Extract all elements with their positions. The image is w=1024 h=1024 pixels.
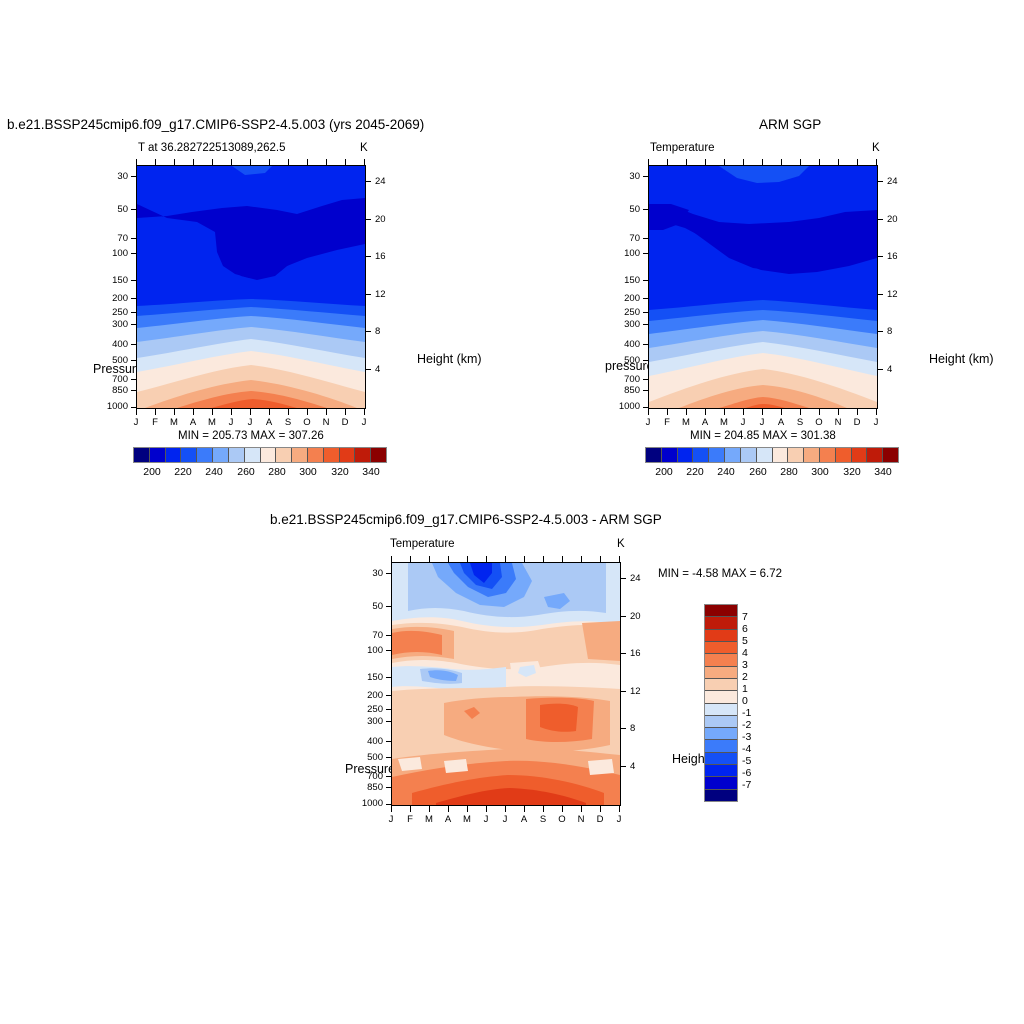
- cbarv-seg-2: [705, 630, 737, 642]
- model-ytick-500: 500: [100, 355, 128, 366]
- difference-cbar-label-n4: -4: [742, 743, 751, 755]
- model-height-tick-16: 16: [375, 251, 391, 262]
- obs-cbar-label-340: 340: [869, 466, 897, 478]
- cbarv-seg-12: [705, 753, 737, 765]
- difference-ytick-50: 50: [355, 601, 383, 612]
- model-ytick-150: 150: [100, 275, 128, 286]
- cbarv-seg-7: [705, 691, 737, 703]
- difference-colorbar[interactable]: [704, 604, 738, 802]
- difference-subtitle-left: Temperature: [390, 538, 455, 550]
- obs-ytick-250: 250: [612, 307, 640, 318]
- obs-units-label: K: [872, 142, 880, 154]
- cbar-seg-7: [245, 448, 261, 462]
- model-cbar-label-220: 220: [169, 466, 197, 478]
- obs-xtick-4: M: [717, 417, 731, 428]
- difference-xtick-8: S: [536, 814, 550, 825]
- model-xtick-11: D: [338, 417, 352, 428]
- model-xtick-4: M: [205, 417, 219, 428]
- obs-plot-area[interactable]: [648, 165, 878, 409]
- obs-xtick-5: J: [736, 417, 750, 428]
- cbar-seg-14: [867, 448, 883, 462]
- difference-cbar-label-n3: -3: [742, 731, 751, 743]
- model-plot-area[interactable]: [136, 165, 366, 409]
- cbarv-seg-1: [705, 617, 737, 629]
- panel-observations: ARM SGP Temperature K pressure level Hei…: [512, 0, 1024, 500]
- difference-height-tick-4: 4: [630, 761, 646, 772]
- obs-xtick-12: J: [869, 417, 883, 428]
- cbarv-seg-6: [705, 679, 737, 691]
- cbar-seg-4: [709, 448, 725, 462]
- difference-height-tick-8: 8: [630, 723, 646, 734]
- model-height-tick-8: 8: [375, 326, 391, 337]
- model-ytick-700: 700: [100, 374, 128, 385]
- obs-xtick-8: S: [793, 417, 807, 428]
- obs-ytick-400: 400: [612, 339, 640, 350]
- difference-xtick-0: J: [384, 814, 398, 825]
- cbar-seg-11: [820, 448, 836, 462]
- model-panel-title: b.e21.BSSP245cmip6.f09_g17.CMIP6-SSP2-4.…: [7, 117, 424, 132]
- difference-ytick-150: 150: [355, 672, 383, 683]
- obs-height-tick-24: 24: [887, 176, 903, 187]
- model-cbar-label-280: 280: [263, 466, 291, 478]
- obs-yaxis-label-right: Height (km): [929, 350, 994, 368]
- cbar-seg-12: [836, 448, 852, 462]
- difference-cbar-label-4: 4: [742, 647, 748, 659]
- difference-cbar-label-n6: -6: [742, 767, 751, 779]
- cbar-seg-6: [229, 448, 245, 462]
- model-xtick-3: A: [186, 417, 200, 428]
- model-subtitle-left: T at 36.282722513089,262.5: [138, 142, 286, 154]
- difference-ytick-400: 400: [355, 736, 383, 747]
- difference-cbar-label-n1: -1: [742, 707, 751, 719]
- panel-difference: b.e21.BSSP245cmip6.f09_g17.CMIP6-SSP2-4.…: [0, 500, 1024, 860]
- cbarv-seg-9: [705, 716, 737, 728]
- difference-ytick-250: 250: [355, 704, 383, 715]
- cbar-seg-14: [355, 448, 371, 462]
- obs-ytick-100: 100: [612, 248, 640, 259]
- difference-ytick-1000: 1000: [351, 798, 383, 809]
- obs-xtick-9: O: [812, 417, 826, 428]
- cbar-seg-5: [725, 448, 741, 462]
- difference-xtick-10: N: [574, 814, 588, 825]
- obs-minmax-label: MIN = 204.85 MAX = 301.38: [690, 430, 836, 442]
- cbar-seg-11: [308, 448, 324, 462]
- difference-xtick-9: O: [555, 814, 569, 825]
- difference-ytick-300: 300: [355, 716, 383, 727]
- cbar-seg-2: [166, 448, 182, 462]
- obs-cbar-label-280: 280: [775, 466, 803, 478]
- obs-cbar-label-300: 300: [806, 466, 834, 478]
- model-xtick-1: F: [148, 417, 162, 428]
- obs-xtick-2: M: [679, 417, 693, 428]
- obs-ytick-700: 700: [612, 374, 640, 385]
- obs-ytick-30: 30: [612, 171, 640, 182]
- difference-cbar-label-7: 7: [742, 611, 748, 623]
- cbar-seg-13: [340, 448, 356, 462]
- obs-xtick-3: A: [698, 417, 712, 428]
- difference-height-tick-20: 20: [630, 611, 646, 622]
- difference-cbar-label-0: 0: [742, 695, 748, 707]
- cbar-seg-3: [181, 448, 197, 462]
- cbar-seg-3: [693, 448, 709, 462]
- cbar-seg-4: [197, 448, 213, 462]
- difference-contour-field: [392, 563, 620, 805]
- obs-ytick-150: 150: [612, 275, 640, 286]
- difference-height-tick-12: 12: [630, 686, 646, 697]
- model-height-tick-20: 20: [375, 214, 391, 225]
- model-xtick-9: O: [300, 417, 314, 428]
- model-xtick-2: M: [167, 417, 181, 428]
- difference-cbar-label-n2: -2: [742, 719, 751, 731]
- model-xtick-0: J: [129, 417, 143, 428]
- cbarv-seg-14: [705, 777, 737, 789]
- model-ytick-400: 400: [100, 339, 128, 350]
- difference-cbar-label-n7: -7: [742, 779, 751, 791]
- difference-cbar-label-n5: -5: [742, 755, 751, 767]
- cbarv-seg-3: [705, 642, 737, 654]
- cbar-seg-15: [883, 448, 898, 462]
- panel-model: b.e21.BSSP245cmip6.f09_g17.CMIP6-SSP2-4.…: [0, 0, 512, 500]
- difference-cbar-label-3: 3: [742, 659, 748, 671]
- obs-ytick-500: 500: [612, 355, 640, 366]
- cbar-seg-9: [788, 448, 804, 462]
- difference-xtick-3: A: [441, 814, 455, 825]
- cbar-seg-0: [134, 448, 150, 462]
- difference-height-tick-24: 24: [630, 573, 646, 584]
- obs-cbar-label-320: 320: [838, 466, 866, 478]
- obs-height-tick-4: 4: [887, 364, 903, 375]
- model-ytick-30: 30: [100, 171, 128, 182]
- difference-xtick-6: J: [498, 814, 512, 825]
- model-ytick-850: 850: [100, 385, 128, 396]
- difference-xtick-2: M: [422, 814, 436, 825]
- obs-height-tick-12: 12: [887, 289, 903, 300]
- difference-panel-title: b.e21.BSSP245cmip6.f09_g17.CMIP6-SSP2-4.…: [270, 512, 662, 527]
- obs-height-tick-16: 16: [887, 251, 903, 262]
- model-yaxis-label-right: Height (km): [417, 350, 482, 368]
- obs-xtick-1: F: [660, 417, 674, 428]
- difference-xtick-7: A: [517, 814, 531, 825]
- model-cbar-label-340: 340: [357, 466, 385, 478]
- model-xtick-8: S: [281, 417, 295, 428]
- difference-cbar-label-5: 5: [742, 635, 748, 647]
- cbar-seg-8: [773, 448, 789, 462]
- difference-ytick-850: 850: [355, 782, 383, 793]
- obs-subtitle-left: Temperature: [650, 142, 715, 154]
- model-contour-field: [137, 166, 365, 408]
- difference-height-tick-16: 16: [630, 648, 646, 659]
- model-xtick-12: J: [357, 417, 371, 428]
- cbar-seg-8: [261, 448, 277, 462]
- model-cbar-label-240: 240: [200, 466, 228, 478]
- difference-cbar-label-2: 2: [742, 671, 748, 683]
- obs-xtick-0: J: [641, 417, 655, 428]
- obs-cbar-label-240: 240: [712, 466, 740, 478]
- obs-ytick-300: 300: [612, 319, 640, 330]
- difference-ytick-500: 500: [355, 752, 383, 763]
- model-ytick-70: 70: [100, 233, 128, 244]
- cbar-seg-10: [292, 448, 308, 462]
- obs-panel-title: ARM SGP: [759, 117, 821, 132]
- obs-cbar-label-260: 260: [744, 466, 772, 478]
- obs-xtick-6: J: [755, 417, 769, 428]
- difference-units-label: K: [617, 538, 625, 550]
- difference-xtick-1: F: [403, 814, 417, 825]
- model-ytick-300: 300: [100, 319, 128, 330]
- cbar-seg-13: [852, 448, 868, 462]
- difference-ytick-30: 30: [355, 568, 383, 579]
- model-cbar-label-300: 300: [294, 466, 322, 478]
- model-height-tick-24: 24: [375, 176, 391, 187]
- difference-ytick-200: 200: [355, 690, 383, 701]
- model-units-label: K: [360, 142, 368, 154]
- cbar-seg-2: [678, 448, 694, 462]
- cbar-seg-6: [741, 448, 757, 462]
- cbar-seg-9: [276, 448, 292, 462]
- cbarv-seg-13: [705, 765, 737, 777]
- obs-ytick-1000: 1000: [608, 401, 640, 412]
- model-height-tick-12: 12: [375, 289, 391, 300]
- cbarv-seg-5: [705, 667, 737, 679]
- obs-ytick-70: 70: [612, 233, 640, 244]
- difference-ytick-100: 100: [355, 645, 383, 656]
- difference-xtick-4: M: [460, 814, 474, 825]
- model-cbar-label-200: 200: [138, 466, 166, 478]
- cbarv-seg-0: [705, 605, 737, 617]
- model-cbar-label-260: 260: [232, 466, 260, 478]
- cbarv-seg-4: [705, 654, 737, 666]
- difference-xtick-5: J: [479, 814, 493, 825]
- cbarv-seg-8: [705, 704, 737, 716]
- obs-xtick-11: D: [850, 417, 864, 428]
- cbar-seg-1: [150, 448, 166, 462]
- obs-xtick-10: N: [831, 417, 845, 428]
- obs-ytick-50: 50: [612, 204, 640, 215]
- obs-colorbar[interactable]: [645, 447, 899, 463]
- obs-height-tick-20: 20: [887, 214, 903, 225]
- model-colorbar[interactable]: [133, 447, 387, 463]
- obs-ytick-850: 850: [612, 385, 640, 396]
- cbar-seg-5: [213, 448, 229, 462]
- model-xtick-7: A: [262, 417, 276, 428]
- obs-xtick-7: A: [774, 417, 788, 428]
- cbar-seg-7: [757, 448, 773, 462]
- difference-xtick-11: D: [593, 814, 607, 825]
- cbarv-seg-11: [705, 740, 737, 752]
- obs-cbar-label-220: 220: [681, 466, 709, 478]
- model-ytick-100: 100: [100, 248, 128, 259]
- cbar-seg-12: [324, 448, 340, 462]
- model-ytick-200: 200: [100, 293, 128, 304]
- model-xtick-5: J: [224, 417, 238, 428]
- model-ytick-250: 250: [100, 307, 128, 318]
- cbar-seg-15: [371, 448, 386, 462]
- cbar-seg-0: [646, 448, 662, 462]
- model-xtick-6: J: [243, 417, 257, 428]
- difference-cbar-label-1: 1: [742, 683, 748, 695]
- cbarv-seg-10: [705, 728, 737, 740]
- model-cbar-label-320: 320: [326, 466, 354, 478]
- difference-xtick-12: J: [612, 814, 626, 825]
- cbar-seg-10: [804, 448, 820, 462]
- model-ytick-50: 50: [100, 204, 128, 215]
- obs-cbar-label-200: 200: [650, 466, 678, 478]
- model-height-tick-4: 4: [375, 364, 391, 375]
- model-xtick-10: N: [319, 417, 333, 428]
- difference-plot-area[interactable]: [391, 562, 621, 806]
- model-ytick-1000: 1000: [96, 401, 128, 412]
- difference-cbar-label-6: 6: [742, 623, 748, 635]
- difference-minmax-label: MIN = -4.58 MAX = 6.72: [658, 568, 782, 580]
- obs-height-tick-8: 8: [887, 326, 903, 337]
- difference-ytick-70: 70: [355, 630, 383, 641]
- cbar-seg-1: [662, 448, 678, 462]
- model-minmax-label: MIN = 205.73 MAX = 307.26: [178, 430, 324, 442]
- obs-ytick-200: 200: [612, 293, 640, 304]
- cbarv-seg-15: [705, 790, 737, 801]
- obs-contour-field: [649, 166, 877, 408]
- difference-ytick-700: 700: [355, 771, 383, 782]
